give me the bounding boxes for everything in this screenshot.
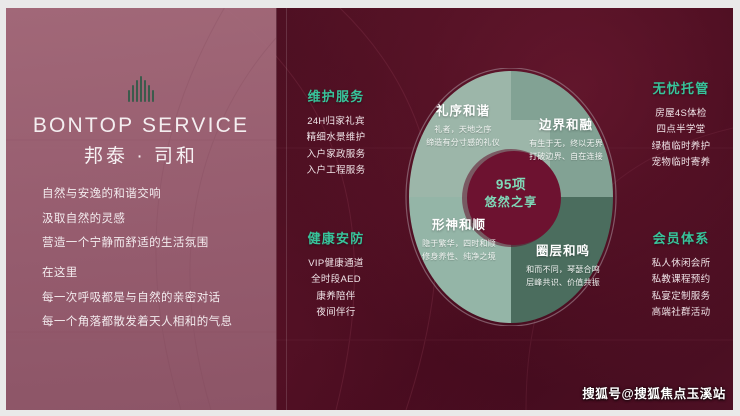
frame-edge-left <box>0 0 6 416</box>
paragraph-line: 营造一个宁静而舒适的生活氛围 <box>42 235 272 252</box>
service-column-title: 会员体系 <box>632 228 730 247</box>
paragraph-line: 每一次呼吸都是与自然的亲密对话 <box>42 290 272 307</box>
service-item: 房屋4S体检 <box>632 106 730 122</box>
service-item: 私教课程预约 <box>632 272 730 288</box>
divider-line-inner <box>286 8 287 410</box>
service-wheel-diagram: 礼序和谐 礼者，天地之序 缔造有分寸感的礼仪 边界和融 有生于无，终以无界 打破… <box>402 68 620 326</box>
frame-edge-top <box>0 0 740 8</box>
presentation-slide: BONTOP SERVICE 邦泰 · 司和 自然与安逸的和谐交响 汲取自然的灵… <box>0 0 740 416</box>
watermark-label: 搜狐号@搜狐焦点玉溪站 <box>582 383 726 402</box>
brand-panel: BONTOP SERVICE 邦泰 · 司和 自然与安逸的和谐交响 汲取自然的灵… <box>6 8 276 410</box>
paragraph-line: 汲取自然的灵感 <box>42 211 272 228</box>
bar-mark-logo-icon <box>6 76 276 102</box>
service-column-health: 健康安防 VIP健康通道 全时段AED 康养陪伴 夜间伴行 <box>290 228 382 321</box>
paragraph-line: 在这里 <box>42 265 272 282</box>
service-column-member: 会员体系 私人休闲会所 私教课程预约 私宴定制服务 高端社群活动 <box>632 228 730 321</box>
paragraph-line: 每一个角落都散发着天人相和的气息 <box>42 314 272 331</box>
service-column-title: 健康安防 <box>290 228 382 247</box>
brand-name-cn: 邦泰 · 司和 <box>6 141 276 168</box>
service-item: 夜间伴行 <box>290 305 382 321</box>
frame-edge-right <box>733 0 740 416</box>
service-column-title: 维护服务 <box>290 86 382 105</box>
wheel-graphic <box>402 68 620 326</box>
service-item: 高端社群活动 <box>632 305 730 321</box>
paragraph-line: 自然与安逸的和谐交响 <box>42 186 272 203</box>
divider-line-left <box>276 8 277 410</box>
service-column-maintenance: 维护服务 24H归家礼宾 精细水景维护 入户家政服务 入户工程服务 <box>290 86 382 179</box>
service-item: 入户家政服务 <box>290 147 382 163</box>
brand-paragraph: 自然与安逸的和谐交响 汲取自然的灵感 营造一个宁静而舒适的生活氛围 在这里 每一… <box>42 186 272 339</box>
frame-edge-bottom <box>0 410 740 416</box>
service-item: 绿植临时养护 <box>632 139 730 155</box>
service-item: 24H归家礼宾 <box>290 114 382 130</box>
service-item: 精细水景维护 <box>290 130 382 146</box>
service-item: VIP健康通道 <box>290 256 382 272</box>
service-item: 私人休闲会所 <box>632 256 730 272</box>
service-item: 私宴定制服务 <box>632 289 730 305</box>
service-item: 宠物临时寄养 <box>632 155 730 171</box>
service-item: 全时段AED <box>290 272 382 288</box>
service-column-custody: 无忧托管 房屋4S体检 四点半学堂 绿植临时养护 宠物临时寄养 <box>632 78 730 171</box>
service-column-title: 无忧托管 <box>632 78 730 97</box>
service-item: 康养陪伴 <box>290 289 382 305</box>
brand-name-en: BONTOP SERVICE <box>6 114 276 138</box>
service-item: 四点半学堂 <box>632 122 730 138</box>
service-item: 入户工程服务 <box>290 163 382 179</box>
core-circle <box>467 151 561 245</box>
